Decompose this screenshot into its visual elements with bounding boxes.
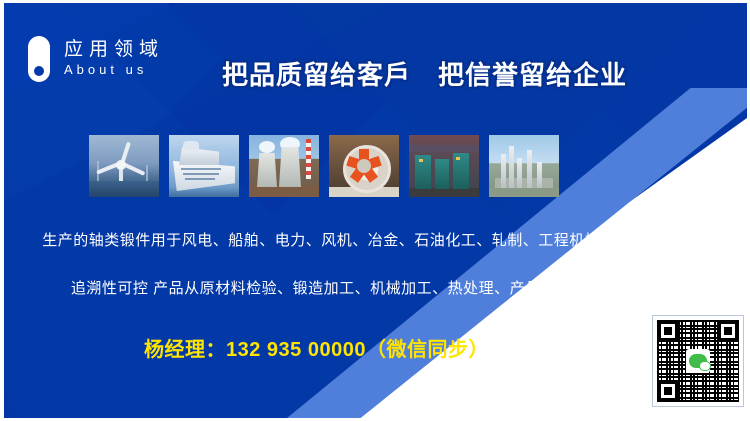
section-badge: 应用领域 About us [28,36,164,82]
work-lamp-1 [419,159,423,162]
wind-turbine-hub [116,160,126,170]
qr-finder-top-right [717,320,739,342]
ship-funnel [183,141,199,150]
qr-finder-bottom-left [657,380,679,402]
wechat-qr-code[interactable] [652,315,744,407]
section-title-en: About us [64,63,164,77]
cooling-tower-1 [257,153,277,187]
photo-wind-power [89,135,159,197]
banner-blue-plate: 应用领域 About us 把品质留给客戶 把信誉留给企业 [4,3,747,418]
fan-hub [357,159,371,173]
photo-shipbuilding [169,135,239,197]
body-line-1: 生产的轴类锻件用于风电、船舶、电力、风机、冶金、石油化工、轧制、工程机械、矿山等… [4,229,747,250]
body-line-2: 追溯性可控 产品从原材料检验、锻造加工、机械加工、热处理、产品终检等工序同步完成 [4,277,747,298]
ship-window-row-3 [185,178,215,180]
wechat-logo-icon [686,349,710,373]
overhead-beam [409,145,479,152]
section-badge-text: 应用领域 About us [64,40,164,77]
contact-line: 杨经理：132 935 00000（微信同步） [144,333,489,362]
shop-floor [409,188,479,197]
headline-slogan: 把品质留给客戶 把信誉留给企业 [222,55,627,92]
photo-industrial-fan [329,135,399,197]
qr-matrix [657,320,739,402]
about-us-banner: 应用领域 About us 把品质留给客戶 把信誉留给企业 [0,0,750,421]
work-lamp-2 [456,157,460,160]
section-title-cn: 应用领域 [64,40,164,61]
plant-ground [489,187,559,197]
qr-finder-top-left [657,320,679,342]
ship-window-row-1 [181,168,221,170]
smokestack [306,139,311,179]
photo-forging-press [409,135,479,197]
photo-power-plant [249,135,319,197]
photo-petrochemical [489,135,559,197]
ship-window-row-2 [183,173,219,175]
steam-plume-1 [259,141,275,153]
wechat-bubble-shape [689,354,707,368]
distillation-column-5 [537,162,542,188]
sea-surface [89,181,159,197]
press-machine-1 [415,155,431,189]
industry-photo-strip [89,135,559,197]
press-machine-2 [435,159,449,189]
distillation-column-2 [509,146,514,188]
cooling-tower-2 [279,147,301,187]
pill-marker-icon [28,36,50,82]
distillation-column-3 [517,158,522,188]
distillation-column-1 [501,154,506,188]
distillation-column-4 [527,150,532,188]
